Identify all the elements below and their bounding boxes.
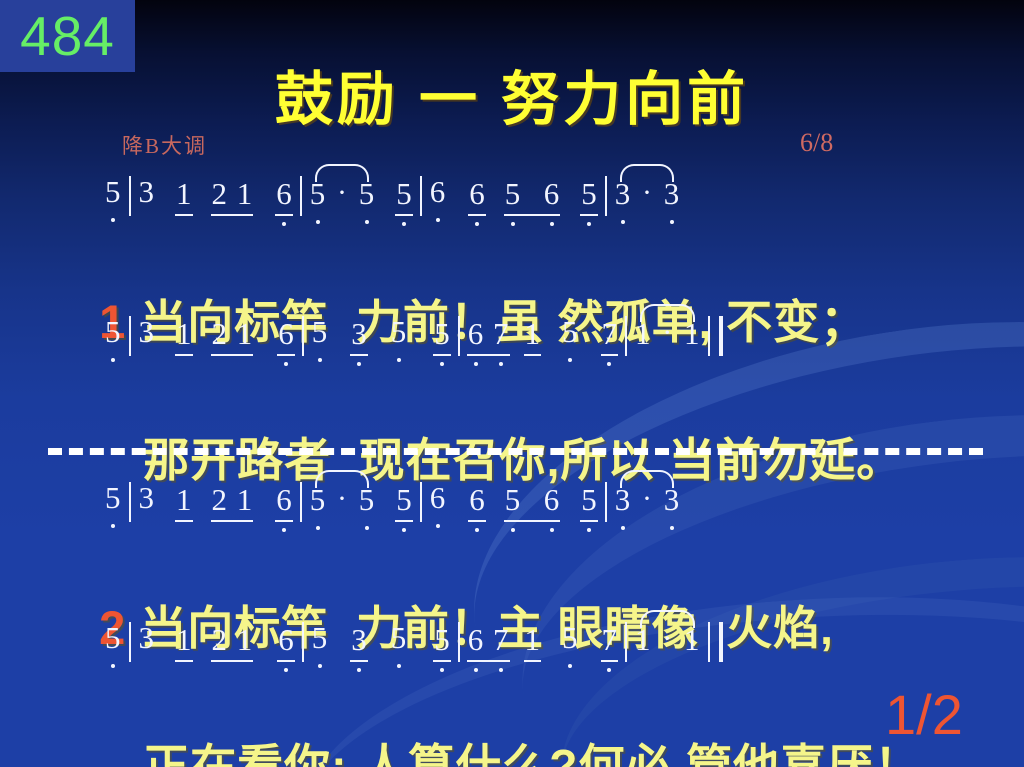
dotted-extension: · (334, 178, 350, 208)
note: 6 (467, 624, 485, 657)
beam-group: 1 (175, 316, 193, 356)
notation-line-2: 5 3 1 2 1 6 5 (0, 316, 1024, 372)
note: 3 (138, 176, 156, 209)
beam-group: 1 (175, 176, 193, 216)
measure: 3 · 3 (614, 176, 681, 212)
note: 5 (104, 316, 122, 349)
beam-group: 5 (433, 316, 451, 356)
barline (302, 316, 304, 356)
note: 1 (524, 624, 542, 657)
note: 5 (390, 316, 408, 349)
beam-group: 3 (350, 316, 368, 356)
barline (300, 176, 302, 216)
tie-arc: 1 · 1 (634, 622, 701, 658)
dotted-extension: · (659, 318, 675, 348)
barline (300, 482, 302, 522)
measure: 6 7 1 5 7 (467, 622, 618, 675)
note: 3 (614, 484, 632, 517)
key-signature: 降B大调 (122, 130, 207, 160)
measure: 6 7 1 5 7 (467, 316, 618, 369)
barline (605, 176, 607, 216)
note: 5 (358, 178, 376, 211)
note: 5 (311, 316, 329, 349)
note: 3 (138, 482, 156, 515)
note: 5 (433, 624, 451, 657)
note: 5 (395, 484, 413, 517)
measure: 3 1 2 1 6 (138, 176, 293, 229)
barline (420, 176, 422, 216)
note: 1 (175, 178, 193, 211)
barline (458, 622, 460, 662)
beam-group: 6 (277, 316, 295, 356)
note: 2 (211, 318, 229, 351)
note: 3 (138, 622, 156, 655)
barline (302, 622, 304, 662)
beam-group: 6 (468, 482, 486, 522)
note: 6 (543, 178, 561, 211)
measure: 3 1 2 1 6 (138, 482, 293, 535)
beam-group: 5 (580, 176, 598, 216)
barline (129, 316, 131, 356)
note: 5 (433, 318, 451, 351)
hymn-slide: 484 鼓励 一 努力向前 降B大调 6/8 5 3 1 2 1 (0, 0, 1024, 767)
note: 5 (504, 178, 522, 211)
barline (129, 176, 131, 216)
note: 7 (601, 624, 619, 657)
note: 3 (138, 316, 156, 349)
beam-group: 7 (601, 622, 619, 662)
beam-group: 6 7 (467, 316, 510, 356)
beam-group: 5 (433, 622, 451, 662)
barline (605, 482, 607, 522)
note: 5 (104, 482, 122, 515)
note: 1 (683, 318, 701, 351)
measure: 5 · 5 5 (309, 482, 413, 535)
note: 1 (236, 484, 254, 517)
beam-group: 5 (395, 176, 413, 216)
note: 3 (663, 484, 681, 517)
page-title: 鼓励 一 努力向前 (0, 52, 1024, 136)
note: 3 (350, 624, 368, 657)
beam-group: 3 (350, 622, 368, 662)
beam-group: 6 (468, 176, 486, 216)
tie-arc: 3 · 3 (614, 482, 681, 518)
note: 6 (277, 318, 295, 351)
beam-group: 5 6 (504, 176, 561, 216)
note: 1 (175, 484, 193, 517)
beam-group: 7 (601, 316, 619, 356)
measure: 6 6 5 6 5 (429, 482, 598, 535)
barline (129, 622, 131, 662)
note: 5 (580, 178, 598, 211)
measure: 5 3 5 5 (311, 622, 451, 675)
note: 5 (104, 176, 122, 209)
measure: 5 3 5 5 (311, 316, 451, 369)
dotted-extension: · (659, 624, 675, 654)
note: 5 (561, 622, 579, 655)
lyric-text: 正在看你; 人算什么?何必 管他喜厌！ (143, 740, 921, 767)
note: 3 (350, 318, 368, 351)
measure: 3 1 2 1 6 (138, 622, 295, 675)
note: 5 (358, 484, 376, 517)
note: 1 (175, 318, 193, 351)
beam-group: 5 (580, 482, 598, 522)
note: 6 (543, 484, 561, 517)
note: 6 (468, 178, 486, 211)
measure: 6 6 5 6 5 (429, 176, 598, 229)
tie-arc: 3 · 3 (614, 176, 681, 212)
beam-group: 1 (175, 482, 193, 522)
dotted-extension: · (639, 178, 655, 208)
note: 5 (390, 622, 408, 655)
dotted-extension: · (334, 484, 350, 514)
beam-group: 1 (524, 622, 542, 662)
verse-divider (48, 448, 983, 455)
note: 5 (309, 484, 327, 517)
beam-group: 6 (275, 482, 293, 522)
page-indicator: 1/2 (885, 682, 963, 747)
note: 6 (468, 484, 486, 517)
note: 7 (601, 318, 619, 351)
note: 5 (504, 484, 522, 517)
note: 1 (175, 624, 193, 657)
notation-line-3: 5 3 1 2 1 6 5 (0, 482, 1024, 538)
note: 1 (236, 318, 254, 351)
beam-group: 5 (395, 482, 413, 522)
note: 6 (277, 624, 295, 657)
note: 6 (275, 484, 293, 517)
note: 5 (580, 484, 598, 517)
note: 2 (211, 484, 229, 517)
barline (129, 482, 131, 522)
note: 7 (492, 624, 510, 657)
measure: 3 1 2 1 6 (138, 316, 295, 369)
tie-arc: 5 · 5 (309, 482, 376, 518)
measure: 5 · 5 5 (309, 176, 413, 229)
beam-group: 6 (277, 622, 295, 662)
measure: 1 · 1 (634, 622, 701, 658)
measure: 1 · 1 (634, 316, 701, 352)
barline (625, 622, 627, 662)
note: 3 (663, 178, 681, 211)
tie-arc: 1 · 1 (634, 316, 701, 352)
notation-line-4: 5 3 1 2 1 6 5 (0, 622, 1024, 678)
note: 5 (311, 622, 329, 655)
barline (420, 482, 422, 522)
note: 1 (524, 318, 542, 351)
note: 1 (236, 178, 254, 211)
beam-group: 6 (275, 176, 293, 216)
final-barline (708, 622, 723, 662)
note: 3 (614, 178, 632, 211)
note: 5 (309, 178, 327, 211)
note: 1 (236, 624, 254, 657)
note: 5 (395, 178, 413, 211)
lyric-line-verse2-2: 正在看你; 人算什么?何必 管他喜厌！ (88, 676, 1024, 767)
notation-line-1: 5 3 1 2 1 6 5 (0, 176, 1024, 232)
lyric-text: 那开路者 现在召你,所以 当前勿延。 (143, 434, 903, 486)
measure: 3 · 3 (614, 482, 681, 518)
beam-group: 1 (175, 622, 193, 662)
note: 6 (429, 482, 447, 515)
note: 2 (211, 624, 229, 657)
note: 1 (634, 318, 652, 351)
note: 1 (683, 624, 701, 657)
beam-group: 2 1 (211, 622, 254, 662)
tie-arc: 5 · 5 (309, 176, 376, 212)
beam-group: 2 1 (211, 176, 254, 216)
beam-group: 1 (524, 316, 542, 356)
note: 5 (561, 316, 579, 349)
beam-group: 5 6 (504, 482, 561, 522)
note: 6 (467, 318, 485, 351)
barline (458, 316, 460, 356)
beam-group: 2 1 (211, 482, 254, 522)
note: 5 (104, 622, 122, 655)
dotted-extension: · (639, 484, 655, 514)
note: 6 (429, 176, 447, 209)
time-signature: 6/8 (800, 128, 833, 158)
beam-group: 6 7 (467, 622, 510, 662)
barline (625, 316, 627, 356)
note: 6 (275, 178, 293, 211)
note: 2 (211, 178, 229, 211)
beam-group: 2 1 (211, 316, 254, 356)
note: 1 (634, 624, 652, 657)
note: 7 (492, 318, 510, 351)
final-barline (708, 316, 723, 356)
